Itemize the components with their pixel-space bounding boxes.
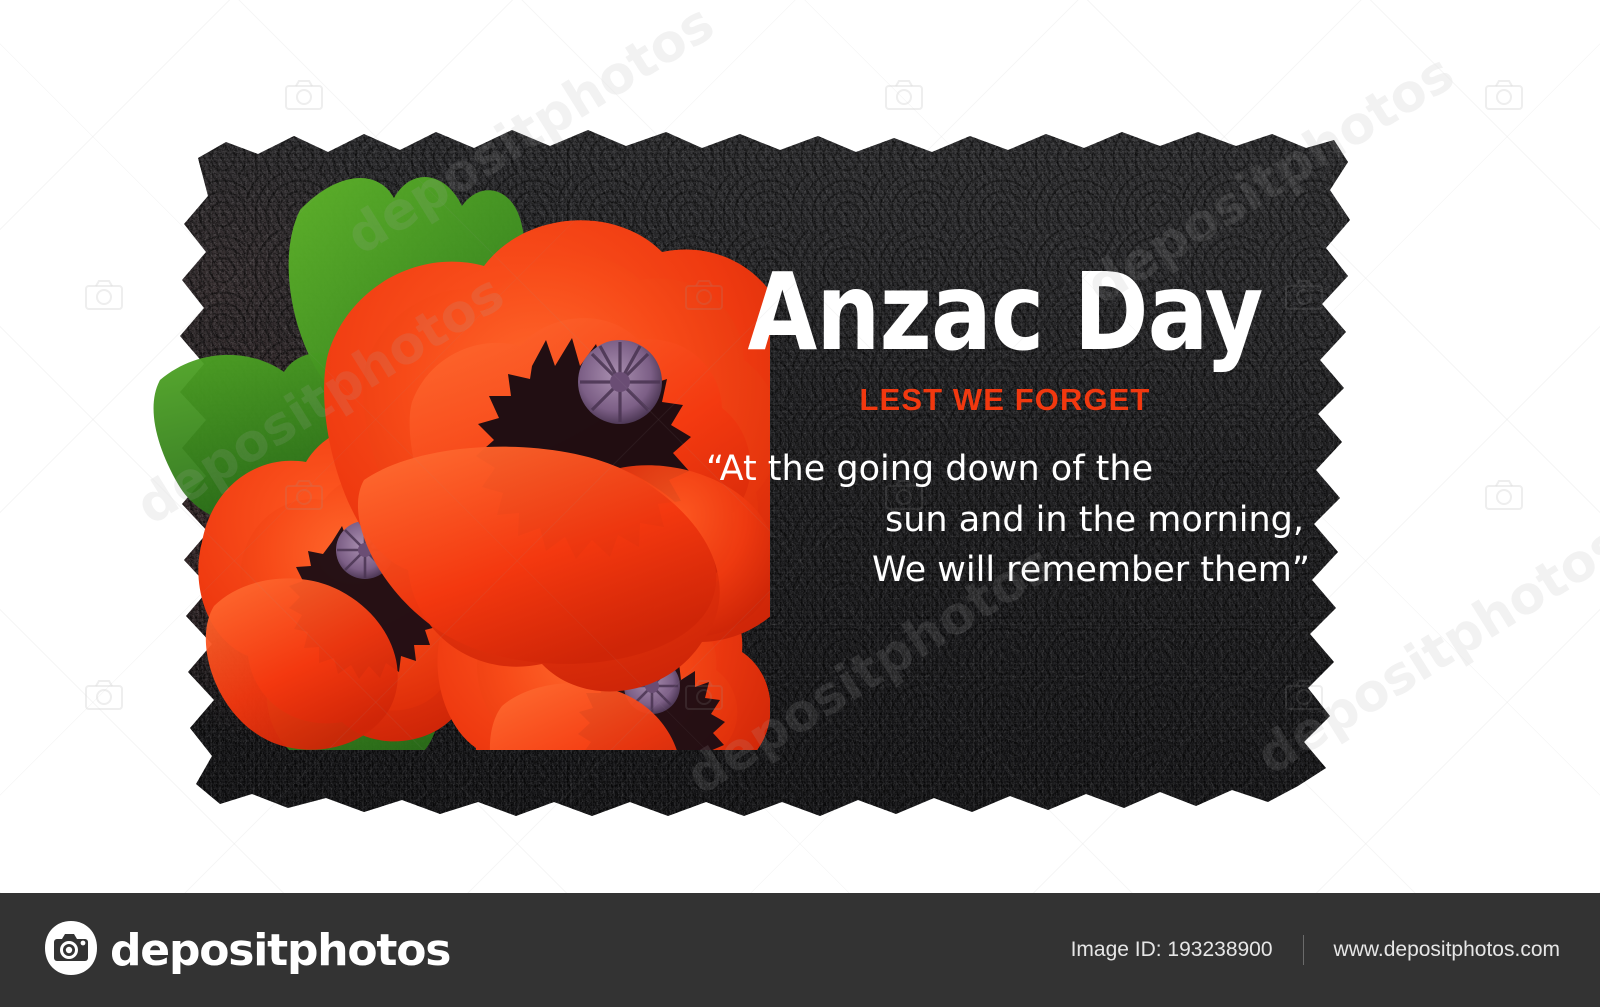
footer-meta: Image ID: 193238900 www.depositphotos.co…	[1071, 935, 1560, 965]
watermark-camera-icon	[85, 680, 123, 715]
watermark-camera-icon	[285, 80, 323, 115]
watermark-camera-icon	[1485, 80, 1523, 115]
watermark-camera-icon	[1485, 480, 1523, 515]
poster-subtitle: LEST WE FORGET	[700, 382, 1310, 418]
camera-icon	[42, 919, 100, 982]
poster-screenshot: Anzac Day LEST WE FORGET “At the going d…	[0, 0, 1600, 1007]
quote-line-1: “At the going down of the	[706, 444, 1310, 494]
watermark-camera-icon	[885, 80, 923, 115]
page-title: Anzac Day	[706, 262, 1304, 364]
poppy-bouquet	[150, 150, 770, 750]
brand-name: depositphotos	[110, 925, 450, 976]
website-link[interactable]: www.depositphotos.com	[1334, 938, 1560, 962]
footer-bar: depositphotos Image ID: 193238900 www.de…	[0, 893, 1600, 1007]
artwork-canvas: Anzac Day LEST WE FORGET “At the going d…	[0, 0, 1600, 893]
brand-logo[interactable]: depositphotos	[42, 919, 450, 982]
image-id-label: Image ID: 193238900	[1071, 938, 1273, 962]
poster-quote: “At the going down of the sun and in the…	[700, 444, 1310, 595]
watermark-camera-icon	[85, 280, 123, 315]
poster-text-block: Anzac Day LEST WE FORGET “At the going d…	[700, 262, 1310, 595]
quote-line-2: sun and in the morning,	[700, 495, 1304, 545]
quote-line-3: We will remember them”	[700, 545, 1310, 595]
footer-divider	[1303, 935, 1304, 965]
